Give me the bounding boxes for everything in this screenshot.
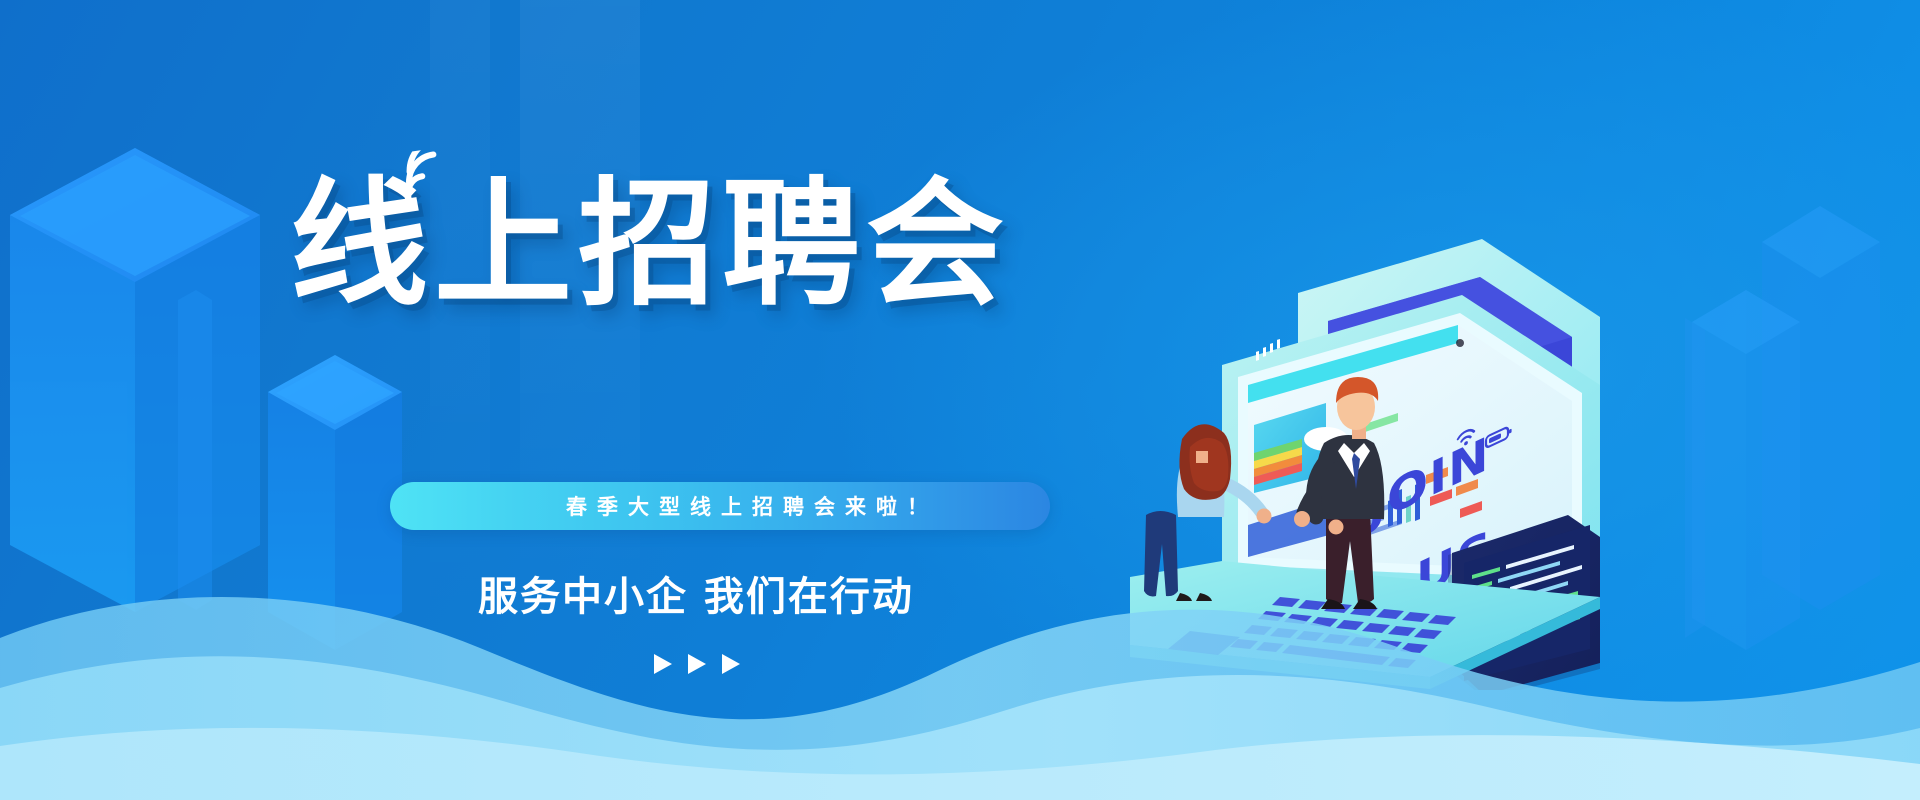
camera-dot xyxy=(1456,339,1464,347)
recruitment-banner: 线上招聘会 春季大型线上招聘会来啦！ 服务中小企 我们在行动 xyxy=(0,0,1920,800)
wave-decoration xyxy=(0,520,1920,800)
subtitle-text: 春季大型线上招聘会来啦！ xyxy=(502,491,938,521)
wifi-signal-icon xyxy=(395,147,453,202)
headline-group: 线上招聘会 xyxy=(290,176,1050,356)
